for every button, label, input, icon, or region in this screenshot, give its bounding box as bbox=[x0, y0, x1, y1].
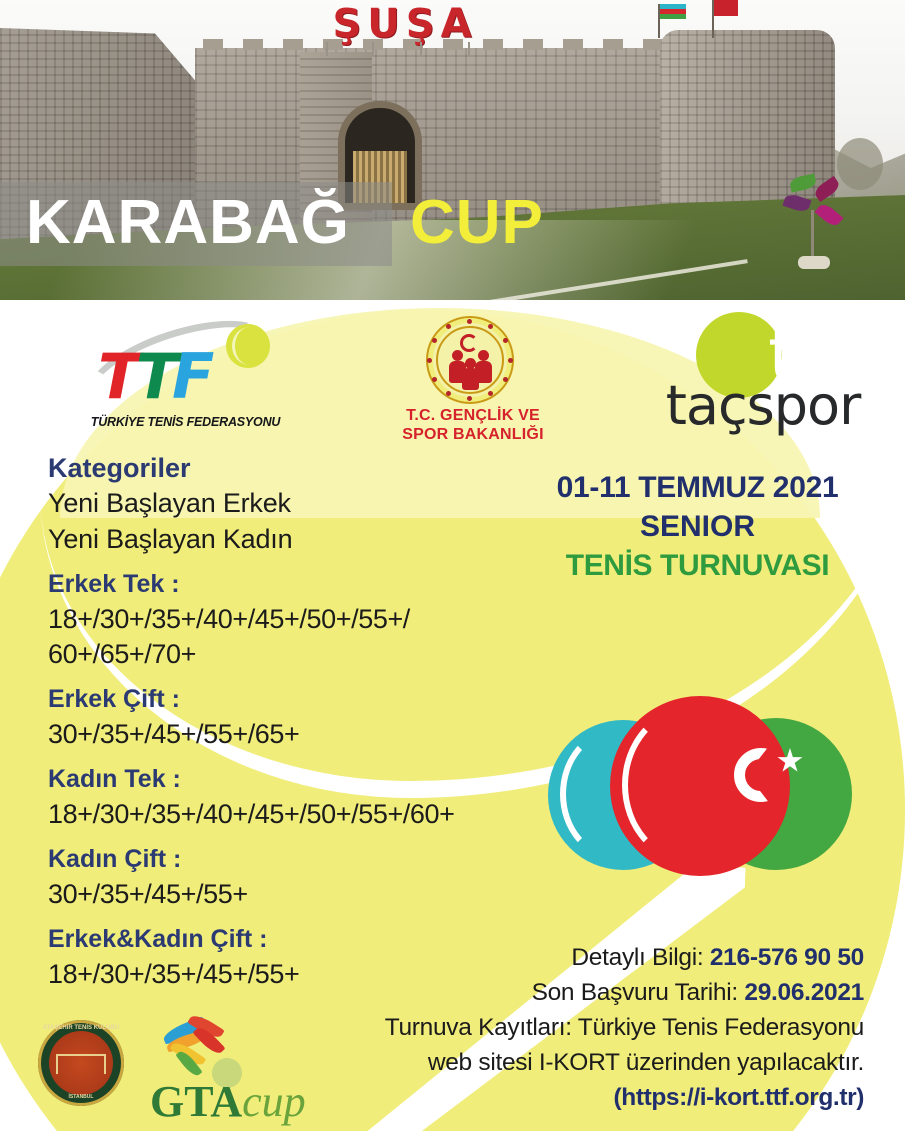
ttf-tennis-ball-icon bbox=[226, 324, 270, 368]
registration-line-2: web sitesi I-KORT üzerinden yapılacaktır… bbox=[320, 1045, 864, 1080]
contact-deadline-line: Son Başvuru Tarihi: 29.06.2021 bbox=[320, 975, 864, 1010]
category-values-erkek-cift: 30+/35+/45+/55+/65+ bbox=[48, 717, 528, 752]
pinwheel-sculpture bbox=[780, 170, 850, 260]
contact-info-line: Detaylı Bilgi: 216-576 90 50 bbox=[320, 940, 864, 975]
club-badge-top-text: ATAŞEHİR TENİS KULÜBÜ bbox=[38, 1025, 124, 1031]
club-badge-text: ATAŞEHİR TENİS KULÜBÜ İSTANBUL bbox=[38, 1020, 124, 1106]
event-level: SENIOR bbox=[505, 508, 890, 546]
category-label-erkek-tek: Erkek Tek : bbox=[48, 566, 528, 602]
category-open-1: Yeni Başlayan Erkek bbox=[48, 485, 528, 521]
tacspor-logo: t taçspor bbox=[648, 312, 878, 442]
category-open-2: Yeni Başlayan Kadın bbox=[48, 521, 528, 557]
gtacup-word-cup: cup bbox=[242, 1077, 306, 1126]
category-values-kadin-cift: 30+/35+/45+/55+ bbox=[48, 877, 528, 912]
tennis-balls-graphic bbox=[548, 692, 878, 882]
event-info-block: 01-11 TEMMUZ 2021 SENIOR TENİS TURNUVASI bbox=[505, 468, 890, 586]
contact-deadline-value: 29.06.2021 bbox=[744, 979, 864, 1006]
club-badge-bottom-text: İSTANBUL bbox=[38, 1094, 124, 1100]
contact-info-label: Detaylı Bilgi: bbox=[571, 944, 709, 971]
gtacup-logo: GTAcup bbox=[150, 1018, 340, 1128]
category-label-erkek-cift: Erkek Çift : bbox=[48, 681, 528, 717]
ttf-logo: TTF TÜRKİYE TENİS FEDERASYONU bbox=[78, 318, 293, 438]
ttf-letter-3: F bbox=[172, 340, 208, 413]
category-values-erkek-tek-1: 18+/30+/35+/40+/45+/50+/55+/ bbox=[48, 602, 528, 637]
ttf-letter-2: T bbox=[136, 340, 172, 413]
gtacup-letter-g: G bbox=[150, 1077, 184, 1126]
ministry-caption: T.C. GENÇLİK VE SPOR BAKANLIĞI bbox=[378, 406, 568, 444]
ttf-letter-1: T bbox=[98, 340, 136, 413]
poster-body: TTF TÜRKİYE TENİS FEDERASYONU bbox=[0, 300, 905, 1131]
ministry-figures-icon bbox=[448, 336, 493, 386]
contact-block: Detaylı Bilgi: 216-576 90 50 Son Başvuru… bbox=[320, 940, 882, 1116]
ministry-caption-line1: T.C. GENÇLİK VE bbox=[378, 406, 568, 425]
hero-photo: ŞUŞA KARABAĞ CUP bbox=[0, 0, 905, 300]
category-label-kadin-tek: Kadın Tek : bbox=[48, 761, 528, 797]
gtacup-letters-ta: TA bbox=[184, 1077, 242, 1126]
event-type: TENİS TURNUVASI bbox=[505, 546, 890, 586]
contact-phone: 216-576 90 50 bbox=[710, 944, 864, 971]
registration-url[interactable]: (https://i-kort.ttf.org.tr) bbox=[320, 1080, 864, 1116]
tennis-ball-red bbox=[610, 696, 790, 876]
atasehir-tenis-kulubu-logo: ATAŞEHİR TENİS KULÜBÜ İSTANBUL bbox=[38, 1020, 124, 1106]
gtacup-wordmark: GTAcup bbox=[150, 1078, 340, 1126]
registration-line-1: Turnuva Kayıtları: Türkiye Tenis Federas… bbox=[320, 1010, 864, 1045]
crescent-icon bbox=[734, 748, 788, 802]
poster-title-accent: CUP bbox=[410, 190, 544, 256]
event-dates: 01-11 TEMMUZ 2021 bbox=[505, 468, 890, 508]
category-values-erkek-tek-2: 60+/65+/70+ bbox=[48, 637, 528, 672]
ministry-caption-line2: SPOR BAKANLIĞI bbox=[378, 425, 568, 444]
sponsor-logo-row: TTF TÜRKİYE TENİS FEDERASYONU bbox=[0, 308, 905, 440]
azerbaijani-flag-icon bbox=[660, 4, 686, 19]
susa-sign-poles bbox=[318, 42, 494, 56]
category-values-kadin-tek: 18+/30+/35+/40+/45+/50+/55+/60+ bbox=[48, 797, 528, 832]
category-label-kadin-cift: Kadın Çift : bbox=[48, 841, 528, 877]
ttf-letters: TTF bbox=[98, 340, 208, 413]
contact-deadline-label: Son Başvuru Tarihi: bbox=[532, 979, 745, 1006]
tacspor-wordmark: taçspor bbox=[648, 374, 878, 437]
ministry-logo: T.C. GENÇLİK VE SPOR BAKANLIĞI bbox=[378, 314, 568, 442]
categories-heading: Kategoriler bbox=[48, 452, 528, 485]
poster-title-main: KARABAĞ bbox=[26, 190, 350, 256]
ttf-caption: TÜRKİYE TENİS FEDERASYONU bbox=[78, 415, 293, 429]
categories-block: Kategoriler Yeni Başlayan Erkek Yeni Baş… bbox=[48, 452, 528, 992]
turkish-flag-icon bbox=[714, 0, 738, 16]
